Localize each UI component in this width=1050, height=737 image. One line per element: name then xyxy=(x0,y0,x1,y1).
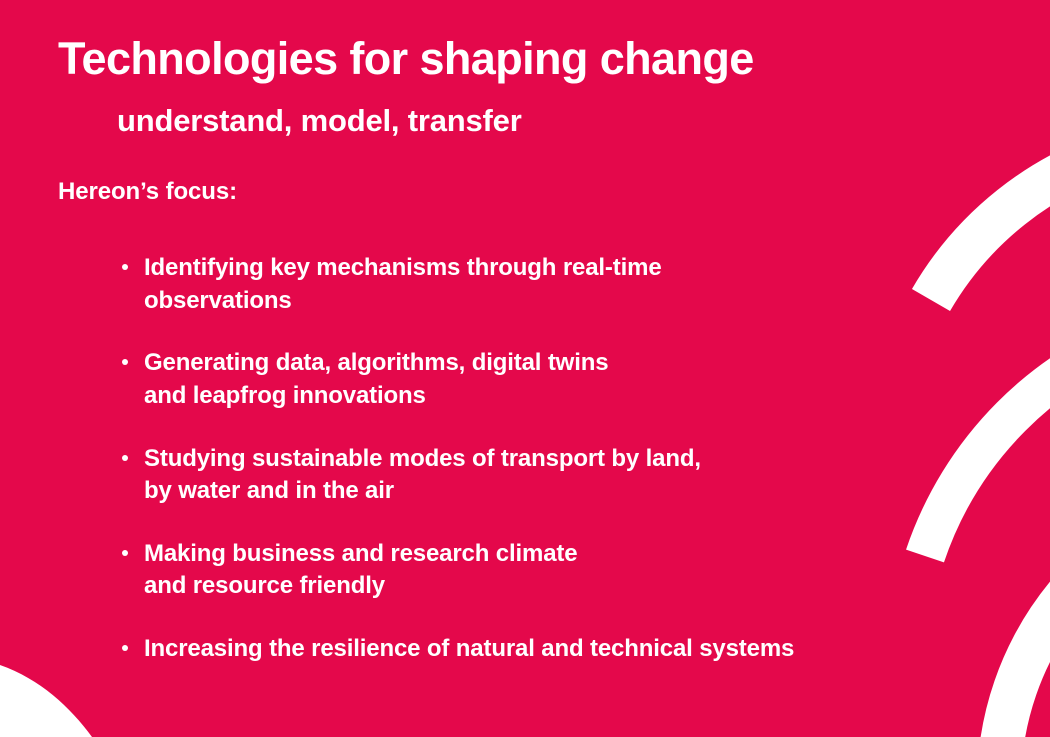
page-title: Technologies for shaping change xyxy=(58,33,754,85)
slide-canvas: Technologies for shaping change understa… xyxy=(0,0,1050,737)
list-item: Studying sustainable modes of transport … xyxy=(118,443,1008,508)
corner-swoosh-icon xyxy=(0,657,300,737)
list-item: Making business and research climate and… xyxy=(118,538,1008,603)
bullet-dot-icon xyxy=(122,264,128,270)
list-item: Identifying key mechanisms through real-… xyxy=(118,252,1008,317)
list-item: Increasing the resilience of natural and… xyxy=(118,633,1008,666)
focus-bullet-list: Identifying key mechanisms through real-… xyxy=(118,252,1008,666)
bullet-dot-icon xyxy=(122,645,128,651)
list-item-label: Making business and research climate and… xyxy=(144,538,1008,603)
focus-label: Hereon’s focus: xyxy=(58,178,237,206)
list-item-label: Increasing the resilience of natural and… xyxy=(144,633,1008,666)
list-item-label: Generating data, algorithms, digital twi… xyxy=(144,347,1008,412)
page-subtitle: understand, model, transfer xyxy=(117,103,522,139)
list-item: Generating data, algorithms, digital twi… xyxy=(118,347,1008,412)
list-item-label: Identifying key mechanisms through real-… xyxy=(144,252,1008,317)
bullet-dot-icon xyxy=(122,455,128,461)
bullet-dot-icon xyxy=(122,359,128,365)
list-item-label: Studying sustainable modes of transport … xyxy=(144,443,1008,508)
bullet-dot-icon xyxy=(122,550,128,556)
